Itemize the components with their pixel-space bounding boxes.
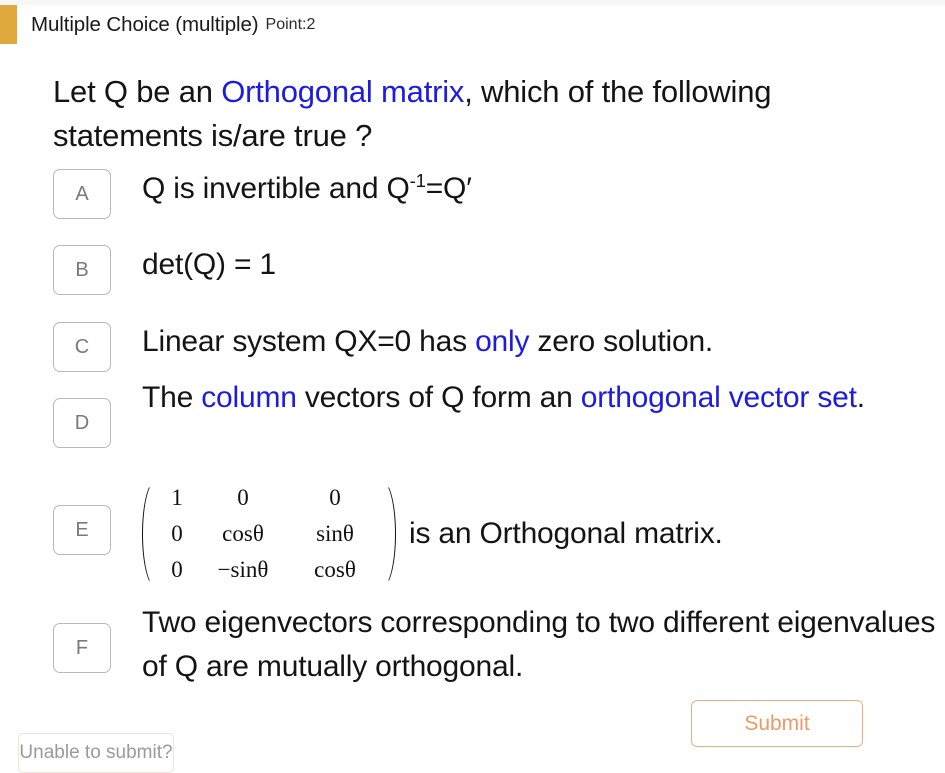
- point-value-label: Point:2: [266, 16, 316, 34]
- option-c-highlight: only: [475, 325, 529, 358]
- option-f-letter-box[interactable]: F: [53, 623, 111, 673]
- option-e-text: is an Orthogonal matrix.: [409, 517, 723, 551]
- matrix-grid: 1 0 0 0 cosθ sinθ 0 −sinθ cosθ: [157, 480, 381, 588]
- option-c-text: Linear system QX=0 has only zero solutio…: [142, 320, 713, 364]
- matrix-cell-r3c3: cosθ: [314, 557, 356, 583]
- option-a-superscript: -1: [410, 170, 426, 191]
- option-a-text-part1: Q is invertible and Q: [142, 172, 410, 205]
- option-e[interactable]: E 1 0 0 0 cosθ sinθ 0 −sinθ cosθ is an O…: [53, 505, 723, 588]
- option-d-highlight-column: column: [201, 381, 297, 414]
- matrix-left-paren: [142, 480, 157, 588]
- option-d-text-part3: .: [857, 381, 865, 414]
- option-e-letter-box[interactable]: E: [53, 505, 111, 555]
- matrix-cell-r1c1: 1: [171, 485, 183, 511]
- option-d-highlight-orthogonal-vector-set: orthogonal vector set: [581, 381, 857, 414]
- unable-to-submit-button[interactable]: Unable to submit?: [18, 733, 174, 773]
- header-text-group: Multiple Choice (multiple) Point:2: [31, 5, 315, 44]
- option-e-matrix: 1 0 0 0 cosθ sinθ 0 −sinθ cosθ: [142, 480, 396, 588]
- stem-highlight-term: Orthogonal matrix: [221, 74, 464, 109]
- option-a[interactable]: A Q is invertible and Q-1=Q′: [53, 169, 472, 219]
- matrix-cell-r2c1: 0: [171, 521, 183, 547]
- option-d-text: The column vectors of Q form an orthogon…: [142, 376, 865, 420]
- matrix-cell-r2c3: sinθ: [316, 521, 354, 547]
- question-header: Multiple Choice (multiple) Point:2: [0, 5, 945, 49]
- option-f[interactable]: F Two eigenvectors corresponding to two …: [53, 623, 942, 689]
- matrix-cell-r1c3: 0: [329, 485, 341, 511]
- question-stem: Let Q be an Orthogonal matrix, which of …: [53, 70, 843, 158]
- matrix-right-paren: [381, 480, 396, 588]
- option-c-text-part1: Linear system QX=0 has: [142, 325, 475, 358]
- option-a-text: Q is invertible and Q-1=Q′: [142, 167, 472, 211]
- option-b[interactable]: B det(Q) = 1: [53, 245, 276, 295]
- matrix-cell-r3c2: −sinθ: [218, 557, 269, 583]
- option-a-letter-box[interactable]: A: [53, 169, 111, 219]
- stem-text-before: Let Q be an: [53, 74, 221, 109]
- submit-button[interactable]: Submit: [691, 700, 863, 747]
- question-type-label: Multiple Choice (multiple): [31, 13, 259, 37]
- option-d-text-part2: vectors of Q form an: [297, 381, 581, 414]
- matrix-cell-r3c1: 0: [171, 557, 183, 583]
- matrix-cell-r1c2: 0: [237, 485, 249, 511]
- header-accent-bar: [0, 5, 17, 44]
- option-d-text-part1: The: [142, 381, 201, 414]
- option-c[interactable]: C Linear system QX=0 has only zero solut…: [53, 322, 713, 372]
- option-b-text: det(Q) = 1: [142, 243, 276, 287]
- option-f-text: Two eigenvectors corresponding to two di…: [142, 601, 942, 689]
- option-d[interactable]: D The column vectors of Q form an orthog…: [53, 398, 865, 448]
- option-a-text-part2: =Q′: [426, 172, 472, 205]
- option-b-letter-box[interactable]: B: [53, 245, 111, 295]
- option-c-text-part2: zero solution.: [529, 325, 713, 358]
- option-c-letter-box[interactable]: C: [53, 322, 111, 372]
- matrix-cell-r2c2: cosθ: [222, 521, 264, 547]
- option-d-letter-box[interactable]: D: [53, 398, 111, 448]
